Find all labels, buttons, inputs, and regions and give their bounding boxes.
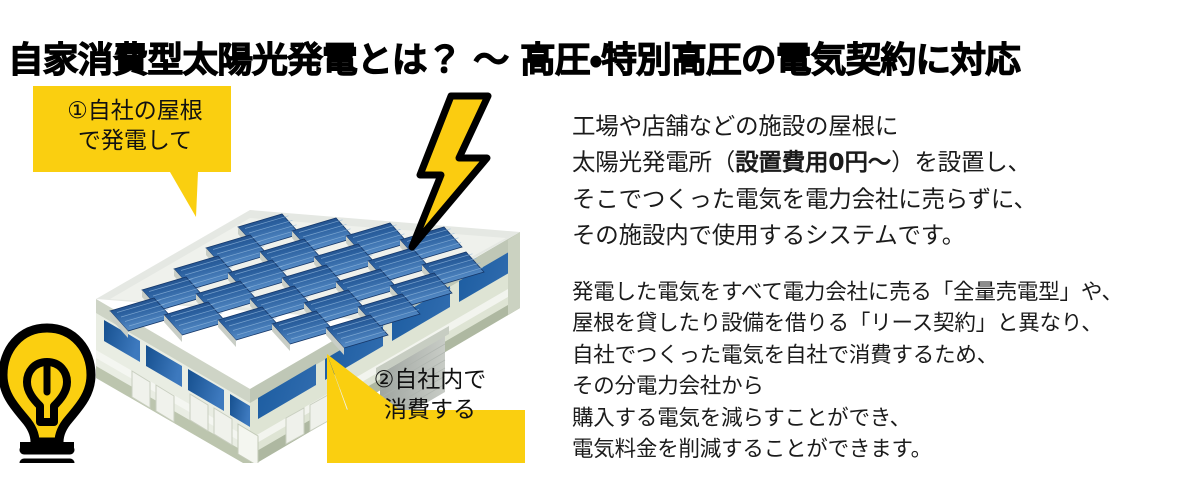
installation-cost-emphasis: 設置費用0円～	[735, 148, 891, 176]
callout-bubble-one	[33, 86, 231, 217]
description-paragraph-one: 工場や店舗などの施設の屋根に 太陽光発電所（設置費用0円～）を設置し、 そこでつ…	[572, 108, 1196, 254]
description-paragraph-two: 発電した電気をすべて電力会社に売る「全量売電型」や、 屋根を貸したり設備を借りる…	[572, 277, 1196, 465]
self-consumption-solar-illustration	[0, 62, 560, 463]
lightning-bolt-icon	[412, 96, 488, 247]
illustration-canvas	[0, 62, 560, 463]
light-bulb-icon	[3, 328, 91, 463]
right-wall-edge	[508, 232, 520, 315]
description-text-block: 工場や店舗などの施設の屋根に 太陽光発電所（設置費用0円～）を設置し、 そこでつ…	[572, 84, 1196, 487]
